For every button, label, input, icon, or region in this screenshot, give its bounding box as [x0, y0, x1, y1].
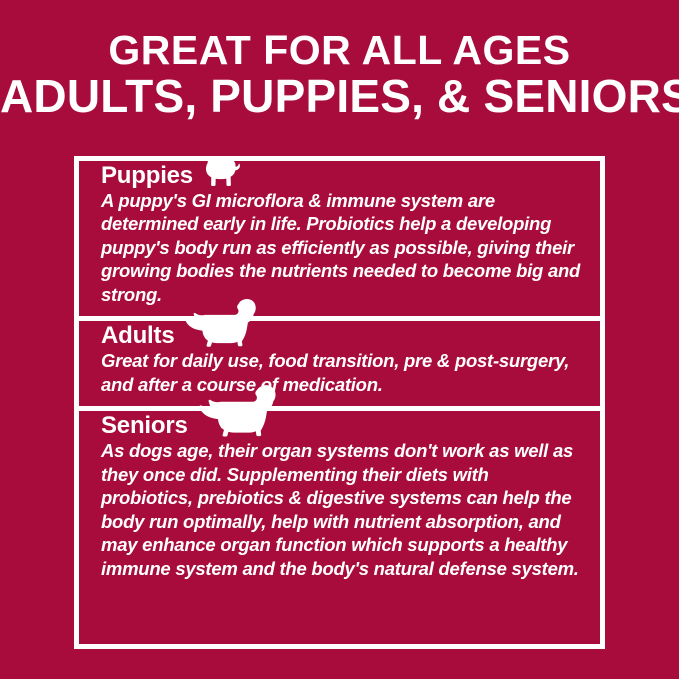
section-seniors: Seniors As dogs age, their organ systems… [79, 406, 600, 590]
headline-line-1: GREAT FOR ALL AGES [0, 30, 679, 71]
section-body-adults: Great for daily use, food transition, pr… [101, 349, 582, 396]
headline-line-2: ADULTS, PUPPIES, & SENIORS [0, 71, 679, 123]
section-header-puppies: Puppies [101, 172, 582, 188]
section-title-puppies: Puppies [101, 164, 193, 188]
section-title-adults: Adults [101, 324, 174, 348]
section-body-seniors: As dogs age, their organ systems don't w… [101, 439, 582, 580]
section-body-puppies: A puppy's GI microflora & immune system … [101, 189, 582, 306]
section-adults: Adults Great for daily use, food transit… [79, 316, 600, 406]
age-groups-panel: Puppies A puppy's GI microflora & immune… [74, 156, 605, 649]
infographic-page: { "colors": { "background": "#a80c3c", "… [0, 0, 679, 679]
section-header-adults: Adults [101, 332, 582, 348]
section-title-seniors: Seniors [101, 414, 188, 438]
section-puppies: Puppies A puppy's GI microflora & immune… [79, 161, 600, 316]
senior-dog-silhouette-icon [195, 384, 277, 438]
section-header-seniors: Seniors [101, 422, 582, 438]
adult-dog-silhouette-icon [181, 298, 257, 348]
page-title: GREAT FOR ALL AGES ADULTS, PUPPIES, & SE… [0, 0, 679, 123]
puppy-dog-silhouette-icon [200, 156, 242, 187]
